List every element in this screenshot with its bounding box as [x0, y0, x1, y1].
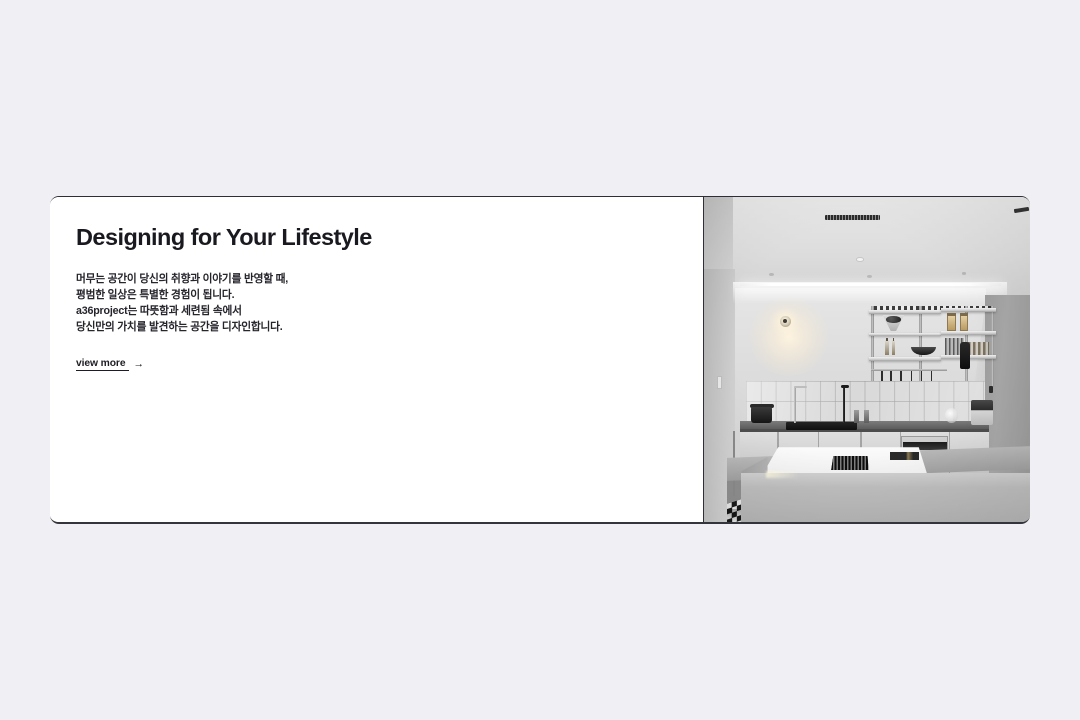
description-line: 당신만의 가치를 발견하는 공간을 디자인합니다. [76, 319, 703, 335]
spice-bottle-neck [893, 338, 895, 341]
hero-card: Designing for Your Lifestyle 머무는 공간이 당신의… [50, 196, 1030, 524]
faucet-spout [794, 386, 807, 389]
coffee-machine [971, 400, 992, 424]
spice-bottle [885, 340, 889, 355]
shelf-board [869, 333, 941, 337]
shelf-board [869, 310, 941, 314]
pepper-mill [854, 410, 859, 423]
fruit-item [886, 316, 901, 323]
view-more-link[interactable]: view more → [76, 358, 144, 371]
island-control-panel [890, 452, 919, 460]
arrow-right-icon: → [133, 359, 143, 370]
island-light-reflection [766, 471, 799, 478]
island-grill-cooktop [831, 456, 868, 471]
description-line: a36project는 따뜻함과 세련됨 속에서 [76, 303, 703, 319]
faucet [794, 387, 797, 423]
description-line: 머무는 공간이 당신의 취향과 이야기를 반영할 때, [76, 271, 703, 287]
ceiling-linear-vent-icon [825, 215, 880, 220]
text-panel: Designing for Your Lifestyle 머무는 공간이 당신의… [50, 197, 704, 522]
cutting-board [960, 342, 970, 370]
view-more-label: view more [76, 358, 129, 371]
shelf-rail [991, 306, 993, 387]
open-wall-shelving [869, 306, 996, 387]
description-paragraph: 머무는 공간이 당신의 취향과 이야기를 반영할 때, 평범한 일상은 특별한 … [76, 271, 703, 336]
pepper-mill [864, 410, 869, 423]
spice-bottle-neck [886, 338, 888, 341]
spice-bottle [892, 340, 896, 355]
storage-jar-lid [960, 313, 968, 315]
secondary-faucet [843, 387, 846, 423]
wall-switch-plate [717, 376, 722, 389]
shelf-board [941, 308, 996, 312]
spice-row [968, 342, 990, 356]
ceiling-spotlight [867, 275, 872, 278]
counter-pot [751, 407, 772, 423]
storage-jar [947, 314, 955, 331]
ceiling-spotlight [962, 272, 967, 275]
smoke-detector-icon [856, 257, 864, 262]
storage-jar-lid [947, 313, 955, 315]
shelf-board [869, 357, 941, 361]
kitchen-interior-image [704, 197, 1030, 522]
storage-jar [960, 314, 968, 331]
wall-socket-icon [989, 386, 993, 393]
hero-image-panel [704, 197, 1030, 522]
secondary-faucet-spout [841, 385, 849, 388]
shelf-rail [871, 306, 873, 387]
island-body [741, 473, 1030, 522]
page-title: Designing for Your Lifestyle [76, 225, 703, 251]
sconce-light-halo [750, 298, 828, 376]
black-pan [911, 347, 936, 356]
description-line: 평범한 일상은 특별한 경험이 됩니다. [76, 287, 703, 303]
integrated-black-sink [786, 422, 858, 430]
cove-light-strip [740, 283, 1001, 286]
shelf-board [941, 331, 996, 335]
